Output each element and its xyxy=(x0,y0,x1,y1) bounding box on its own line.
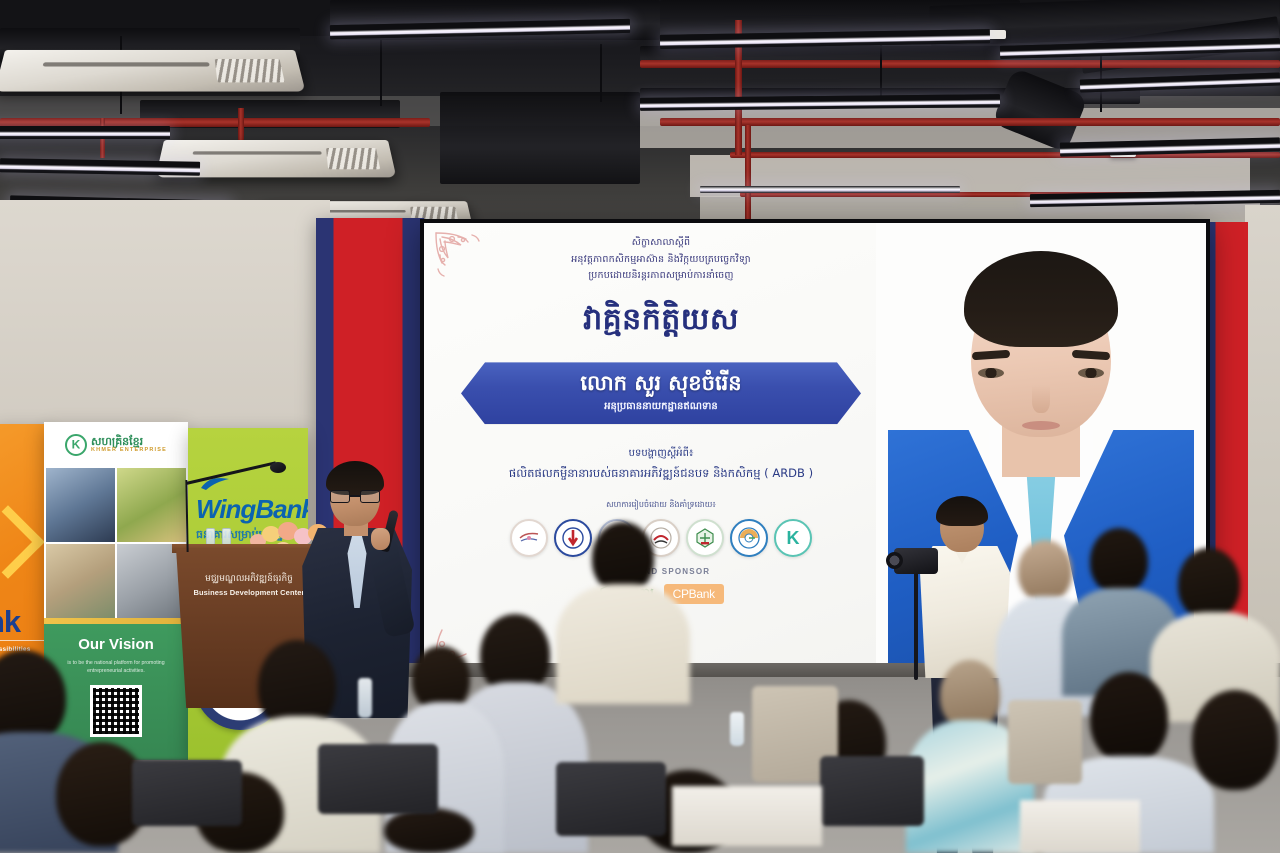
photo-construction xyxy=(117,544,186,618)
chevron-icon xyxy=(0,505,45,579)
speaker-name: លោក សួរ សុខចំរើន xyxy=(580,372,741,395)
sprinkler-pipe xyxy=(660,118,1280,126)
wing-brand-part1: Wing xyxy=(196,494,255,524)
topic-label: បទបង្ហាញស្តីអំពី៖ xyxy=(448,444,874,463)
orange-banner-brand: nk xyxy=(0,604,20,640)
slide-topic-block: បទបង្ហាញស្តីអំពី៖ ផលិតផលកម្ចីនានារបស់ធនា… xyxy=(448,444,874,485)
ke-photo-grid xyxy=(44,468,188,618)
partners-label: សហការរៀបចំដោយ និងគាំទ្រដោយ៖ xyxy=(448,499,874,511)
chair xyxy=(556,762,666,836)
audience-member xyxy=(1178,548,1240,620)
speaker-name-ribbon: លោក សួរ សុខចំរើន អនុប្រធាននាយកដ្ឋានឥណទាន xyxy=(461,362,861,424)
chair xyxy=(820,756,924,826)
podium-english-label: Business Development Center xyxy=(183,588,315,597)
microphone-head-icon xyxy=(270,462,286,473)
camera-rig-handle xyxy=(914,570,918,680)
partner-logo-2 xyxy=(554,519,592,557)
partner-logo-1 xyxy=(510,519,548,557)
videographer-hair xyxy=(936,496,988,526)
ceiling xyxy=(0,0,1280,232)
portrait-eye-right xyxy=(1078,368,1104,378)
qr-code[interactable] xyxy=(90,685,142,737)
podium-khmer-label: មជ្ឈមណ្ឌលអភិវឌ្ឍន៍ធុរកិច្ច xyxy=(183,574,315,585)
led-light-fixture xyxy=(1080,73,1280,93)
chair xyxy=(318,744,438,814)
presenter-hand xyxy=(371,528,390,550)
chair xyxy=(1008,700,1082,784)
photo-temple-tourism xyxy=(46,544,115,618)
portrait-mouth xyxy=(1022,421,1060,430)
ke-logo-icon xyxy=(65,434,87,456)
podium-nameplate: មជ្ឈមណ្ឌលអភិវឌ្ឍន៍ធុរកិច្ច Business Deve… xyxy=(183,574,315,597)
water-bottle xyxy=(730,712,744,746)
photo-handshake xyxy=(46,468,115,542)
photo-rice-field xyxy=(117,468,186,542)
chair xyxy=(132,760,242,826)
water-bottle xyxy=(358,678,372,718)
audience-member xyxy=(1090,528,1148,594)
ke-vision-text: is to be the national platform for promo… xyxy=(62,659,170,676)
sponsor-name-cpbank: CPBank xyxy=(673,587,715,601)
khmer-enterprise-logo: K xyxy=(774,519,812,557)
partner-logo-row: K xyxy=(448,519,874,557)
topic-text: ផលិតផលកម្ចីនានារបស់ធនាគារអភិវឌ្ឍន៍ជនបទ ន… xyxy=(448,463,874,485)
sponsor-label: DIAMOND SPONSOR xyxy=(448,567,874,576)
wing-bank-logo: WingBank xyxy=(196,494,308,525)
slide-header-line-1: សិក្ខាសាលាស្តីពី xyxy=(448,235,874,252)
ke-vision-heading: Our Vision xyxy=(78,636,154,653)
speaker-role: អនុប្រធាននាយកដ្ឋានឥណទាន xyxy=(604,399,718,414)
portrait-nose xyxy=(1032,385,1050,413)
audience-member xyxy=(384,808,474,853)
camera-lens-icon xyxy=(886,552,903,569)
ke-english-name: KHMER ENTERPRISE xyxy=(91,448,167,454)
portrait-eye-left xyxy=(978,368,1004,378)
led-light-fixture xyxy=(0,126,170,139)
slide-title: វាគ្មិនកិត្តិយស xyxy=(448,301,874,339)
audience-member xyxy=(1192,690,1278,790)
slide-header-line-3: ប្រកបដោយនិរន្តរភាពសម្រាប់ការនាំចេញ xyxy=(448,268,874,285)
conference-hall-scene: សិក្ខាសាលាស្តីពី អនុវត្តភាពកសិកម្មអាស៊ាន… xyxy=(0,0,1280,853)
slide-header-line-2: អនុវត្តភាពកសិកម្មអាស៊ាន និងវិក្កយបត្របច្… xyxy=(448,252,874,269)
table xyxy=(1020,800,1140,853)
led-light-fixture xyxy=(700,186,960,193)
partner-logo-5 xyxy=(686,519,724,557)
audience-member xyxy=(556,584,690,704)
ac-unit xyxy=(0,50,305,92)
audience-member xyxy=(1090,672,1168,764)
led-light-fixture xyxy=(0,158,200,175)
banner-khmer-enterprise: សហគ្រិនខ្មែរ KHMER ENTERPRISE Our Vision… xyxy=(44,422,188,760)
audience-member xyxy=(1018,540,1072,602)
ke-logo-block: សហគ្រិនខ្មែរ KHMER ENTERPRISE xyxy=(44,422,188,468)
partner-logo-6 xyxy=(730,519,768,557)
table xyxy=(672,786,822,846)
back-wall-right xyxy=(1245,205,1280,675)
portrait-hair xyxy=(964,251,1118,347)
glasses-icon xyxy=(330,490,380,503)
